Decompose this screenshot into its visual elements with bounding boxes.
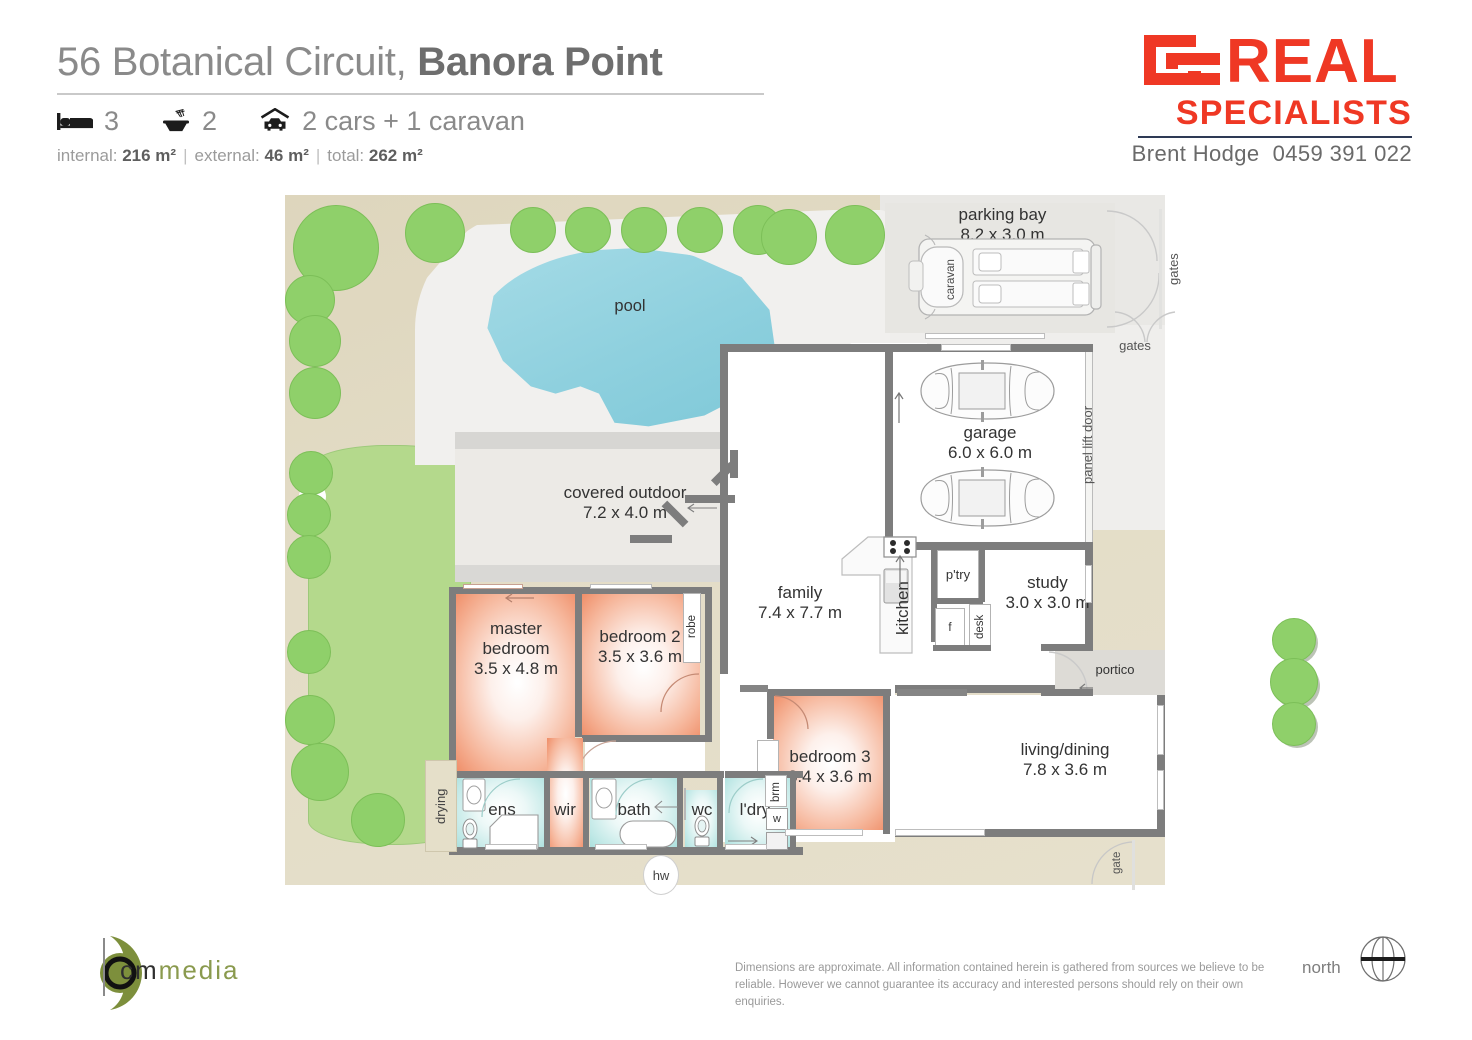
window-south-5 <box>895 829 985 836</box>
pool-label: pool <box>560 297 700 316</box>
title-suburb: Banora Point <box>417 40 662 84</box>
window-east-living <box>1157 705 1164 755</box>
title-street: 56 Botanical Circuit, <box>57 40 417 84</box>
bed-icon <box>57 110 93 132</box>
wall-portico-north <box>1041 644 1093 651</box>
tree-icon <box>677 207 721 251</box>
bedroom2-robe-label: robe <box>686 605 699 647</box>
bedrooms-count: 3 <box>104 106 119 137</box>
bath-door-swing-icon <box>615 778 653 816</box>
desk-label: desk <box>974 609 987 645</box>
tree-icon <box>287 535 329 577</box>
bedroom2-label: bedroom 2 3.5 x 3.6 m <box>580 627 700 667</box>
tree-icon <box>1270 658 1316 704</box>
master-bedroom-label: master bedroom 3.5 x 4.8 m <box>452 619 580 679</box>
walkway-arrow-kitchen-icon <box>893 553 907 587</box>
walkway-arrow-garage-icon <box>892 390 906 424</box>
area-sep-1: | <box>183 146 187 165</box>
agent-contact: Brent Hodge 0459 391 022 <box>1120 141 1412 167</box>
drying-label: drying <box>433 775 448 837</box>
tree-icon <box>285 695 333 743</box>
window-south-2 <box>595 844 647 850</box>
spec-bathrooms: 2 <box>161 106 217 137</box>
family-name: family <box>778 583 822 602</box>
tree-icon <box>510 207 554 251</box>
tree-icon <box>289 367 339 417</box>
caravan-icon <box>903 233 1103 321</box>
tree-icon <box>287 493 329 535</box>
wall-north <box>720 344 892 352</box>
area-sep-2: | <box>316 146 320 165</box>
window-east-living-2 <box>1157 770 1164 810</box>
tree-icon <box>761 209 815 263</box>
tree-icon <box>287 630 329 672</box>
gates-right-label: gates <box>1166 243 1181 295</box>
broom-label: brm <box>770 779 783 805</box>
car-icon-2 <box>915 467 1060 529</box>
page-title: 56 Botanical Circuit, Banora Point <box>57 40 663 85</box>
window-south-1 <box>485 844 537 850</box>
window-garage-north <box>941 344 1011 351</box>
tree-icon <box>351 793 403 845</box>
parking-count: 2 cars + 1 caravan <box>302 106 525 137</box>
header: 56 Botanical Circuit, Banora Point 3 <box>0 0 1472 185</box>
living-dining-name: living/dining <box>1021 740 1110 759</box>
north-compass-icon <box>1360 936 1406 982</box>
tree-icon <box>825 205 883 263</box>
living-pier-2 <box>740 685 768 692</box>
brand-name: REAL <box>1226 29 1399 95</box>
bedroom2-window <box>590 584 652 589</box>
cmmedia-wordmark: cmmedia <box>120 955 240 986</box>
garage-dims: 6.0 x 6.0 m <box>948 443 1032 462</box>
bedroom2-name: bedroom 2 <box>599 627 680 646</box>
wall-ldry-east <box>790 771 796 851</box>
tree-icon <box>1272 702 1314 744</box>
window-south-4 <box>785 829 863 836</box>
wall-bed2-east <box>705 587 712 742</box>
wall-desk-south <box>933 645 991 651</box>
footer: cmmedia Dimensions are approximate. All … <box>0 905 1472 1040</box>
spec-parking: 2 cars + 1 caravan <box>259 106 525 137</box>
parking-bay-name: parking bay <box>959 205 1047 224</box>
window-south-3 <box>725 844 767 850</box>
cmmedia-media: media <box>159 955 240 985</box>
wall-master-west <box>449 587 456 773</box>
agent-phone: 0459 391 022 <box>1273 141 1412 166</box>
tree-icon <box>405 203 463 261</box>
garage-name: garage <box>964 423 1017 442</box>
external-label: external: <box>195 146 260 165</box>
brand-divider <box>1138 136 1412 138</box>
cov-wall-b <box>730 450 738 478</box>
internal-value: 216 m² <box>122 146 176 165</box>
master-bedroom-name1: master <box>490 619 542 638</box>
disclaimer-text: Dimensions are approximate. All informat… <box>735 960 1290 1011</box>
ensuite-toilet-icon <box>459 817 481 849</box>
living-dining-dims: 7.8 x 3.6 m <box>1023 760 1107 779</box>
wall-pantry-east <box>979 550 985 602</box>
bedroom2-door-swing-icon <box>660 673 700 713</box>
total-value: 262 m² <box>369 146 423 165</box>
covered-outdoor-lower-eave <box>455 565 745 582</box>
tree-icon <box>291 743 347 799</box>
master-bedroom-dims: 3.5 x 4.8 m <box>474 659 558 678</box>
living-pier-1 <box>897 689 967 696</box>
floor-plan: pool gate covered area 5.0 x 5.0 m cover… <box>285 195 1185 890</box>
master-window <box>463 584 523 589</box>
family-dims: 7.4 x 7.7 m <box>758 603 842 622</box>
covered-area-arrow-icon <box>685 500 719 516</box>
bottom-gate-label: gate <box>1111 847 1124 879</box>
total-label: total: <box>327 146 364 165</box>
living-dining-label: living/dining 7.8 x 3.6 m <box>975 740 1155 780</box>
cmmedia-divider <box>103 938 105 996</box>
cmmedia-cm: cm <box>120 955 159 985</box>
wall-bed3-west-upper <box>767 689 774 739</box>
wc-toilet-icon <box>690 813 714 847</box>
north-label: north <box>1302 958 1341 978</box>
agency-logo[interactable]: REAL SPECIALISTS Brent Hodge 0459 391 02… <box>1118 33 1414 173</box>
panel-lift-door-label: panel lift door <box>1080 385 1095 505</box>
laundry-door-swing-icon <box>728 778 764 814</box>
tree-icon <box>565 207 609 251</box>
external-value: 46 m² <box>264 146 308 165</box>
master-bedroom-name2: bedroom <box>482 639 549 658</box>
study-dims: 3.0 x 3.0 m <box>1005 593 1089 612</box>
tree-icon <box>1272 618 1314 660</box>
window-parking-edge <box>925 333 1045 339</box>
gates-lower-label: gates <box>1100 338 1170 353</box>
bedroom2-dims: 3.5 x 3.6 m <box>598 647 682 666</box>
wir-floor <box>547 738 583 850</box>
wc-door <box>684 788 686 820</box>
area-summary: internal: 216 m²|external: 46 m²|total: … <box>57 146 423 166</box>
cov-wall-e <box>630 535 672 543</box>
wall-family-west <box>720 344 728 674</box>
property-specs: 3 2 2 cars + 1 <box>57 104 567 138</box>
wall-portico-south <box>1041 689 1093 696</box>
internal-label: internal: <box>57 146 117 165</box>
pantry-label: p'try <box>937 567 979 582</box>
ensuite-door-swing-icon <box>481 778 521 818</box>
garage-car-icon <box>259 108 291 134</box>
garage-wall-bottom <box>887 542 1093 550</box>
tree-icon <box>289 451 331 493</box>
bathrooms-count: 2 <box>202 106 217 137</box>
master-slider-arrow-icon <box>503 591 535 605</box>
wir-label: wir <box>545 800 585 820</box>
study-name: study <box>1027 573 1068 592</box>
caravan-label: caravan <box>945 250 958 310</box>
agent-name: Brent Hodge <box>1132 141 1260 166</box>
brand-subtitle: SPECIALISTS <box>1120 95 1412 131</box>
wall-wet-north-2 <box>582 771 724 778</box>
fridge-label: f <box>935 622 965 635</box>
garage-label: garage 6.0 x 6.0 m <box>915 423 1065 463</box>
covered-outdoor-dims: 7.2 x 4.0 m <box>583 503 667 522</box>
covered-outdoor-name: covered outdoor <box>564 483 687 502</box>
window-east-study <box>1085 565 1092 603</box>
bedroom3-door-swing-icon <box>774 695 810 731</box>
bedroom3-name: bedroom 3 <box>789 747 870 766</box>
tree-icon <box>621 207 665 251</box>
hot-water-marker: hw <box>643 855 679 895</box>
title-divider <box>57 93 764 95</box>
spec-bedrooms: 3 <box>57 106 119 137</box>
real-specialists-mark-icon <box>1144 35 1220 97</box>
washer-box: w <box>766 808 788 830</box>
wall-garage-west <box>885 344 893 544</box>
tree-icon <box>289 315 339 365</box>
car-icon-1 <box>915 360 1060 422</box>
bath-shower-icon <box>161 109 191 133</box>
bath-vanity-icon <box>591 778 617 820</box>
